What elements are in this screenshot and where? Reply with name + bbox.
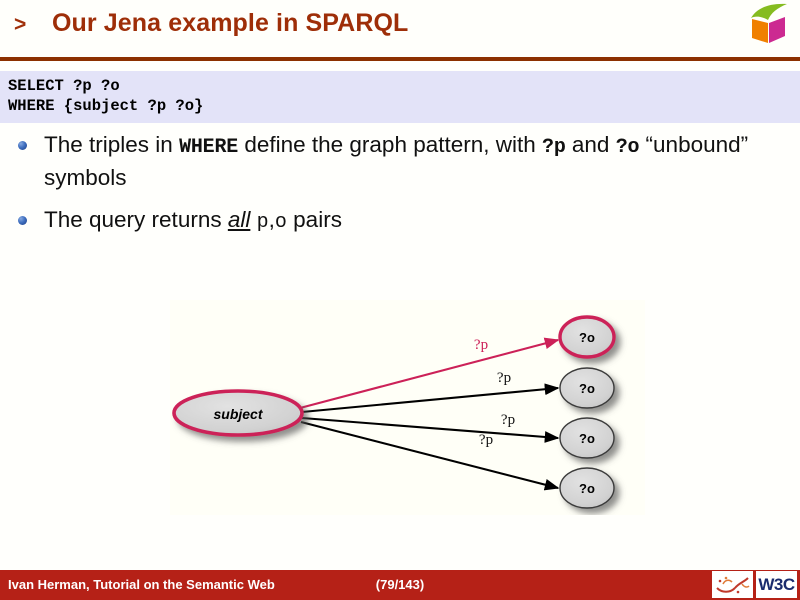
node-subject[interactable]: subject	[174, 391, 302, 435]
node-object[interactable]: ?o	[560, 468, 614, 508]
node-object[interactable]: ?o	[560, 317, 614, 357]
bullet-segment-code: ?p	[542, 136, 566, 159]
edge-arrow	[301, 422, 558, 488]
bullet-segment: The triples in	[44, 132, 179, 157]
footer-logos: W3C	[712, 571, 797, 598]
edge-arrow-highlighted	[300, 340, 558, 408]
node-label: ?o	[579, 381, 595, 396]
bullet-text: The query returns all p,o pairs	[44, 205, 790, 238]
title-marker: >	[14, 14, 26, 35]
bullet-list: The triples in WHERE define the graph pa…	[0, 130, 790, 250]
node-label: ?o	[579, 330, 595, 345]
sparql-code-block: SELECT ?p ?o WHERE {subject ?p ?o}	[0, 71, 800, 123]
edge-label: ?p	[497, 370, 511, 386]
list-item: The query returns all p,o pairs	[0, 205, 790, 238]
node-label: ?o	[579, 431, 595, 446]
bullet-segment-code: o	[275, 211, 287, 234]
bullet-text: The triples in WHERE define the graph pa…	[44, 130, 790, 193]
blue-sphere-bullet-icon	[18, 216, 27, 225]
w3c-logo-label: W3C	[758, 576, 794, 593]
node-label: subject	[213, 406, 263, 422]
code-line: SELECT ?p ?o	[8, 76, 800, 96]
arabic-calligraphy-logo-icon	[712, 571, 753, 598]
footer-page-number: (79/143)	[0, 577, 800, 592]
rdf-graph-diagram: ?p ?p ?p ?p subject ?o ?o ?o	[170, 300, 645, 515]
bullet-segment-code: WHERE	[179, 136, 238, 159]
bullet-segment: and	[566, 132, 616, 157]
bullet-segment-code: ?o	[616, 136, 640, 159]
node-object[interactable]: ?o	[560, 368, 614, 408]
slide-header: > Our Jena example in SPARQL	[0, 0, 800, 58]
header-divider	[0, 57, 800, 61]
node-label: ?o	[579, 481, 595, 496]
bullet-segment: pairs	[287, 207, 342, 232]
w3c-cube-logo-icon	[747, 3, 791, 45]
edge-arrow	[302, 418, 558, 438]
node-object[interactable]: ?o	[560, 418, 614, 458]
slide: > Our Jena example in SPARQL SELECT ?p ?…	[0, 0, 800, 600]
code-line: WHERE {subject ?p ?o}	[8, 96, 800, 116]
edge-arrow	[302, 388, 558, 412]
edge-label: ?p	[501, 412, 515, 428]
bullet-segment-emphasis: all	[228, 207, 251, 232]
bullet-segment-code: p	[257, 211, 269, 234]
edge-group	[300, 340, 558, 488]
page-title: Our Jena example in SPARQL	[52, 9, 408, 38]
bullet-segment: The query returns	[44, 207, 228, 232]
list-item: The triples in WHERE define the graph pa…	[0, 130, 790, 193]
slide-footer: Ivan Herman, Tutorial on the Semantic We…	[0, 570, 800, 600]
edge-label: ?p	[479, 432, 493, 448]
blue-sphere-bullet-icon	[18, 141, 27, 150]
w3c-logo-icon: W3C	[756, 571, 797, 598]
edge-label-highlighted: ?p	[474, 337, 488, 353]
bullet-segment: define the graph pattern, with	[238, 132, 542, 157]
